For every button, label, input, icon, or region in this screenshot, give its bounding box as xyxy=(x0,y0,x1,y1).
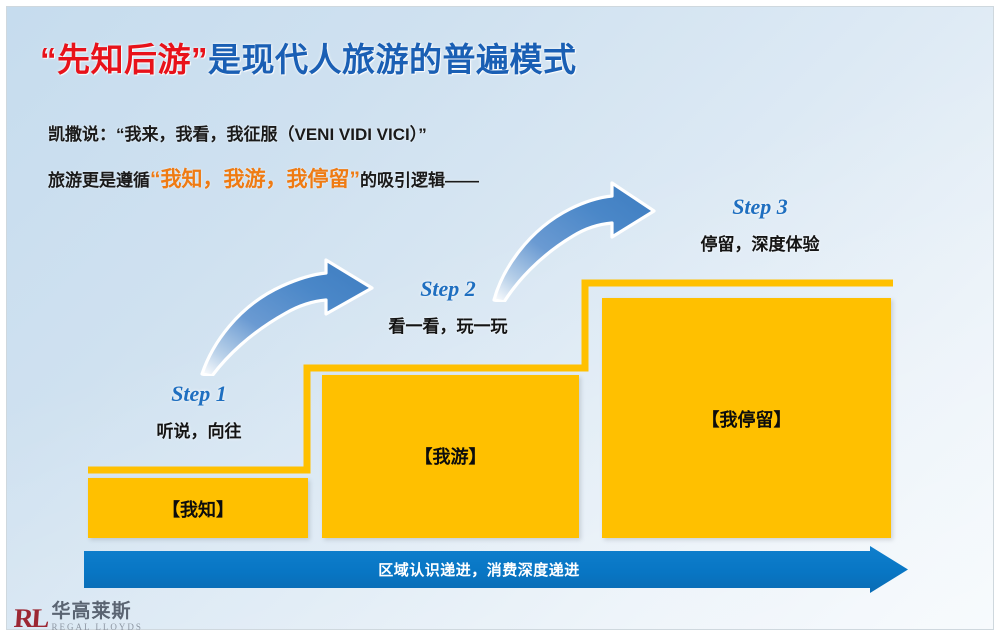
step-caption-2: Step 2 看一看，玩一玩 xyxy=(348,276,548,337)
brand-logo: RL 华高莱斯 REGAL LLOYDS xyxy=(14,598,143,632)
logo-name-en: REGAL LLOYDS xyxy=(52,623,143,632)
progress-banner-label: 区域认识递进，消费深度递进 xyxy=(84,559,874,580)
step-box-2[interactable]: 【我游】 xyxy=(322,375,579,538)
step-1-title: Step 1 xyxy=(104,381,294,407)
step-3-title: Step 3 xyxy=(650,194,870,220)
intro-line-1: 凯撒说：“我来，我看，我征服（VENI VIDI VICI）” xyxy=(48,120,427,145)
step-1-subtitle: 听说，向往 xyxy=(104,417,294,442)
logo-mark-icon: RL xyxy=(13,605,48,632)
step-2-title: Step 2 xyxy=(348,276,548,302)
step-box-2-label: 【我游】 xyxy=(322,443,579,469)
step-box-1-label: 【我知】 xyxy=(88,496,308,522)
page-title: “先知后游”是现代人旅游的普遍模式 xyxy=(40,33,577,81)
logo-name-cn: 华高莱斯 xyxy=(52,602,143,621)
step-caption-1: Step 1 听说，向往 xyxy=(104,381,294,442)
intro-line-2-prefix: 旅游更是遵循 xyxy=(48,171,150,190)
progress-banner[interactable]: 区域认识递进，消费深度递进 xyxy=(84,546,908,593)
intro-line-2: 旅游更是遵循“我知，我游，我停留”的吸引逻辑—— xyxy=(48,163,479,193)
intro-line-2-highlight: “我知，我游，我停留” xyxy=(150,168,360,191)
step-2-subtitle: 看一看，玩一玩 xyxy=(348,312,548,337)
step-box-3-label: 【我停留】 xyxy=(602,406,891,432)
step-box-3[interactable]: 【我停留】 xyxy=(602,298,891,538)
step-3-subtitle: 停留，深度体验 xyxy=(650,230,870,255)
slide-canvas: “先知后游”是现代人旅游的普遍模式 凯撒说：“我来，我看，我征服（VENI VI… xyxy=(0,0,1000,636)
page-title-quoted: “先知后游” xyxy=(40,41,208,78)
intro-line-2-suffix: 的吸引逻辑—— xyxy=(360,171,479,190)
step-caption-3: Step 3 停留，深度体验 xyxy=(650,194,870,255)
page-title-rest: 是现代人旅游的普遍模式 xyxy=(208,41,577,78)
logo-text: 华高莱斯 REGAL LLOYDS xyxy=(52,602,143,632)
step-box-1[interactable]: 【我知】 xyxy=(88,478,308,538)
